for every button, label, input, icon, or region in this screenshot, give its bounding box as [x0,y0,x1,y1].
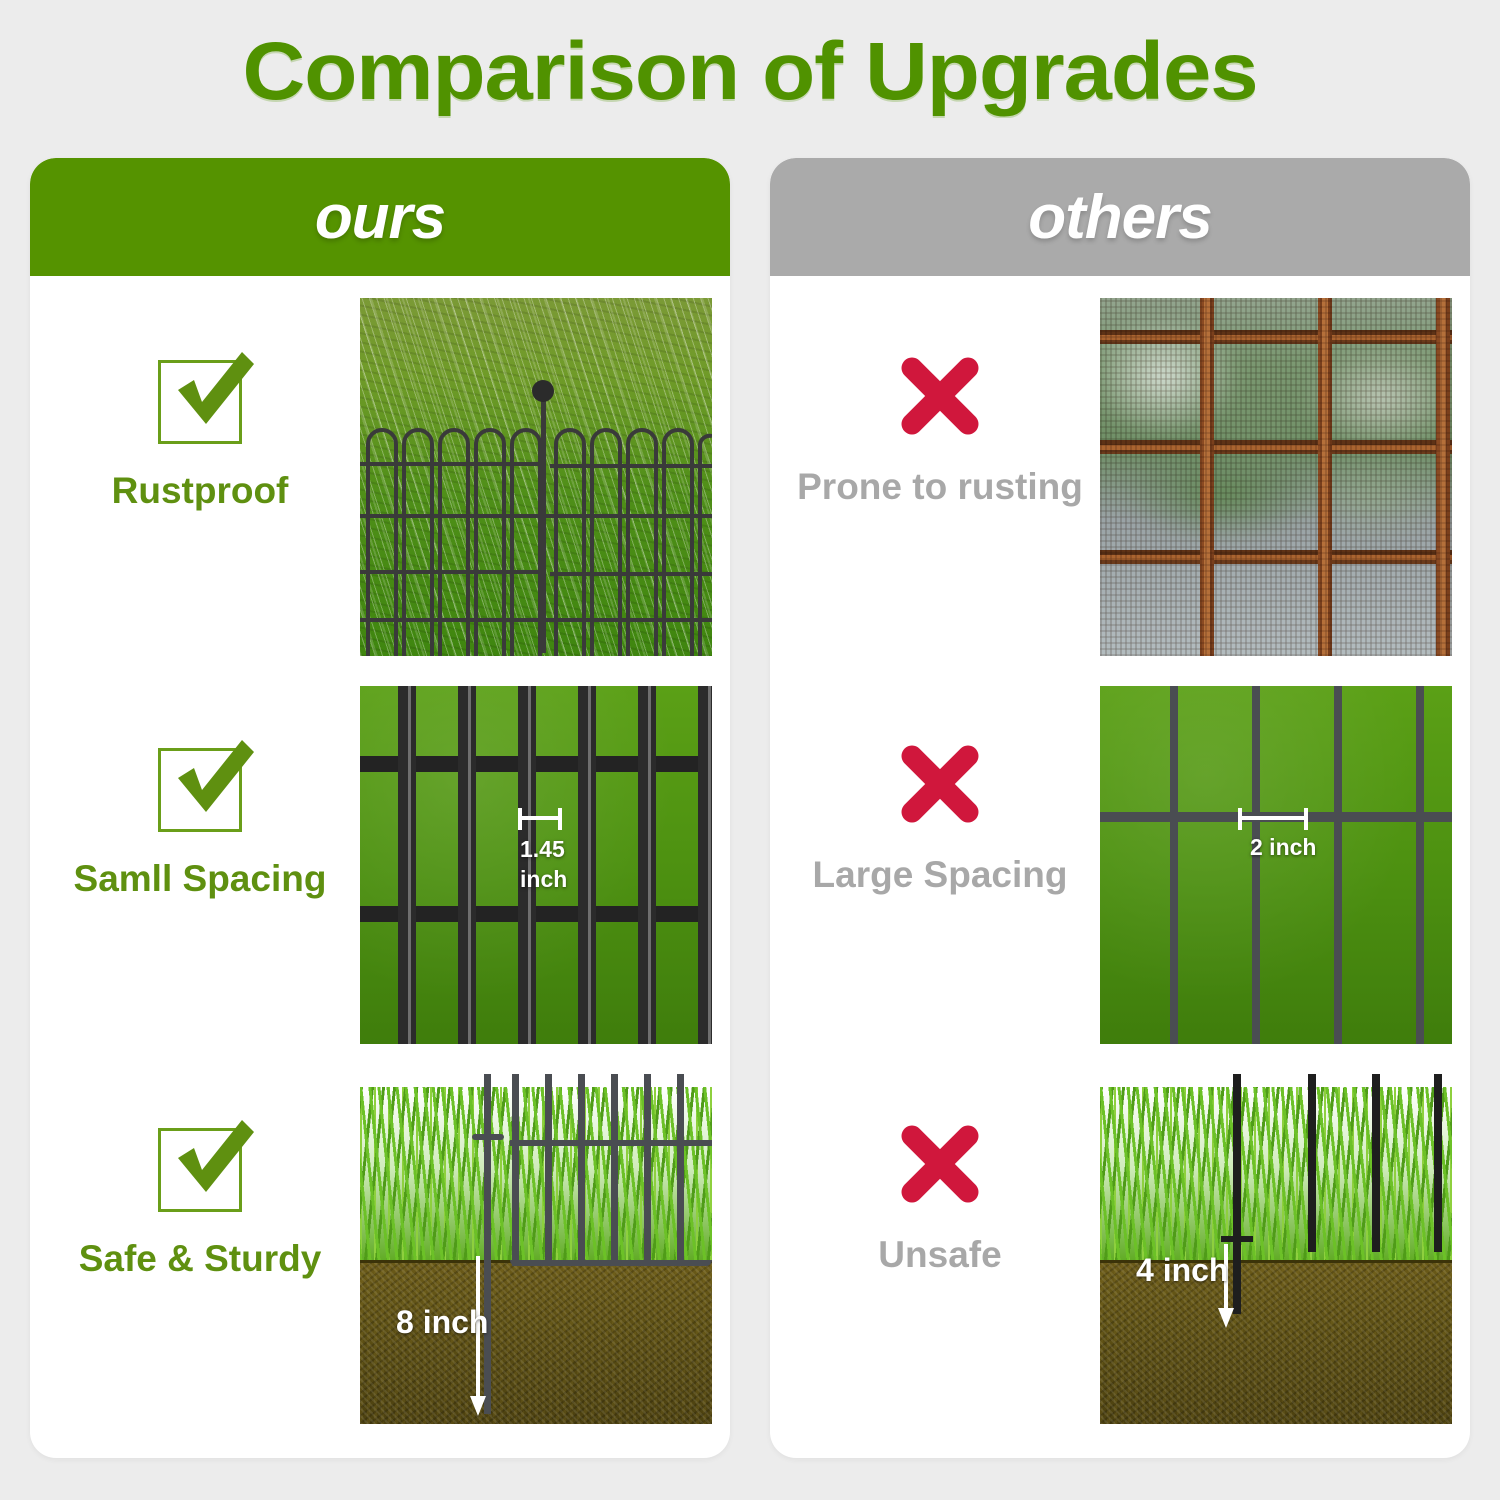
row-large-spacing: Large Spacing 2 inch [770,676,1470,1051]
photo-rusted-mesh [1100,298,1452,656]
feature-label: Prone to rusting [797,466,1083,508]
page-title: Comparison of Upgrades [0,26,1500,118]
feature-unsafe: Unsafe [790,1116,1090,1276]
others-header: others [770,158,1470,276]
ours-card: ours Rustproof [30,158,730,1458]
feature-label: Rustproof [112,470,289,512]
row-unsafe: Unsafe 4 inch [770,1056,1470,1431]
ours-header: ours [30,158,730,276]
feature-large-spacing: Large Spacing [790,736,1090,896]
depth-callout: 4 inch [1136,1252,1228,1289]
spacing-callout-value: 1.45 [520,836,565,863]
measure-bar [1238,808,1308,830]
feature-safe-sturdy: Safe & Sturdy [50,1116,350,1280]
column-others: others Prone to rusting [770,158,1470,1458]
feature-label: Unsafe [878,1234,1001,1276]
column-ours: ours Rustproof [30,158,730,1458]
row-prone-to-rusting: Prone to rusting [770,288,1470,663]
photo-shallow-stake: 4 inch [1100,1066,1452,1424]
feature-small-spacing: Samll Spacing [50,736,350,900]
feature-label: Large Spacing [813,854,1068,896]
row-small-spacing: Samll Spacing 1.45 inch [30,676,730,1051]
spacing-callout-value: 2 inch [1250,834,1316,861]
ours-header-label: ours [315,182,445,253]
others-card: others Prone to rusting [770,158,1470,1458]
photo-fence-in-rain [360,298,712,656]
cross-icon [892,1116,988,1212]
depth-callout: 8 inch [396,1304,488,1341]
feature-rustproof: Rustproof [50,348,350,512]
photo-deep-stake: 8 inch [360,1066,712,1424]
cross-icon [892,348,988,444]
check-icon [150,736,250,836]
photo-narrow-spacing: 1.45 inch [360,686,712,1044]
hoop-fence-graphic [360,406,712,656]
measure-bar [518,808,562,830]
others-header-label: others [1028,182,1211,253]
cross-icon [892,736,988,832]
check-icon [150,348,250,448]
feature-label: Safe & Sturdy [79,1238,322,1280]
feature-label: Samll Spacing [74,858,327,900]
row-safe-sturdy: Safe & Sturdy [30,1056,730,1431]
check-icon [150,1116,250,1216]
photo-wide-spacing: 2 inch [1100,686,1452,1044]
feature-prone-to-rusting: Prone to rusting [790,348,1090,508]
spacing-callout-unit: inch [520,866,567,893]
comparison-infographic: Comparison of Upgrades ours Rustproof [0,0,1500,1500]
row-rustproof: Rustproof [30,288,730,663]
